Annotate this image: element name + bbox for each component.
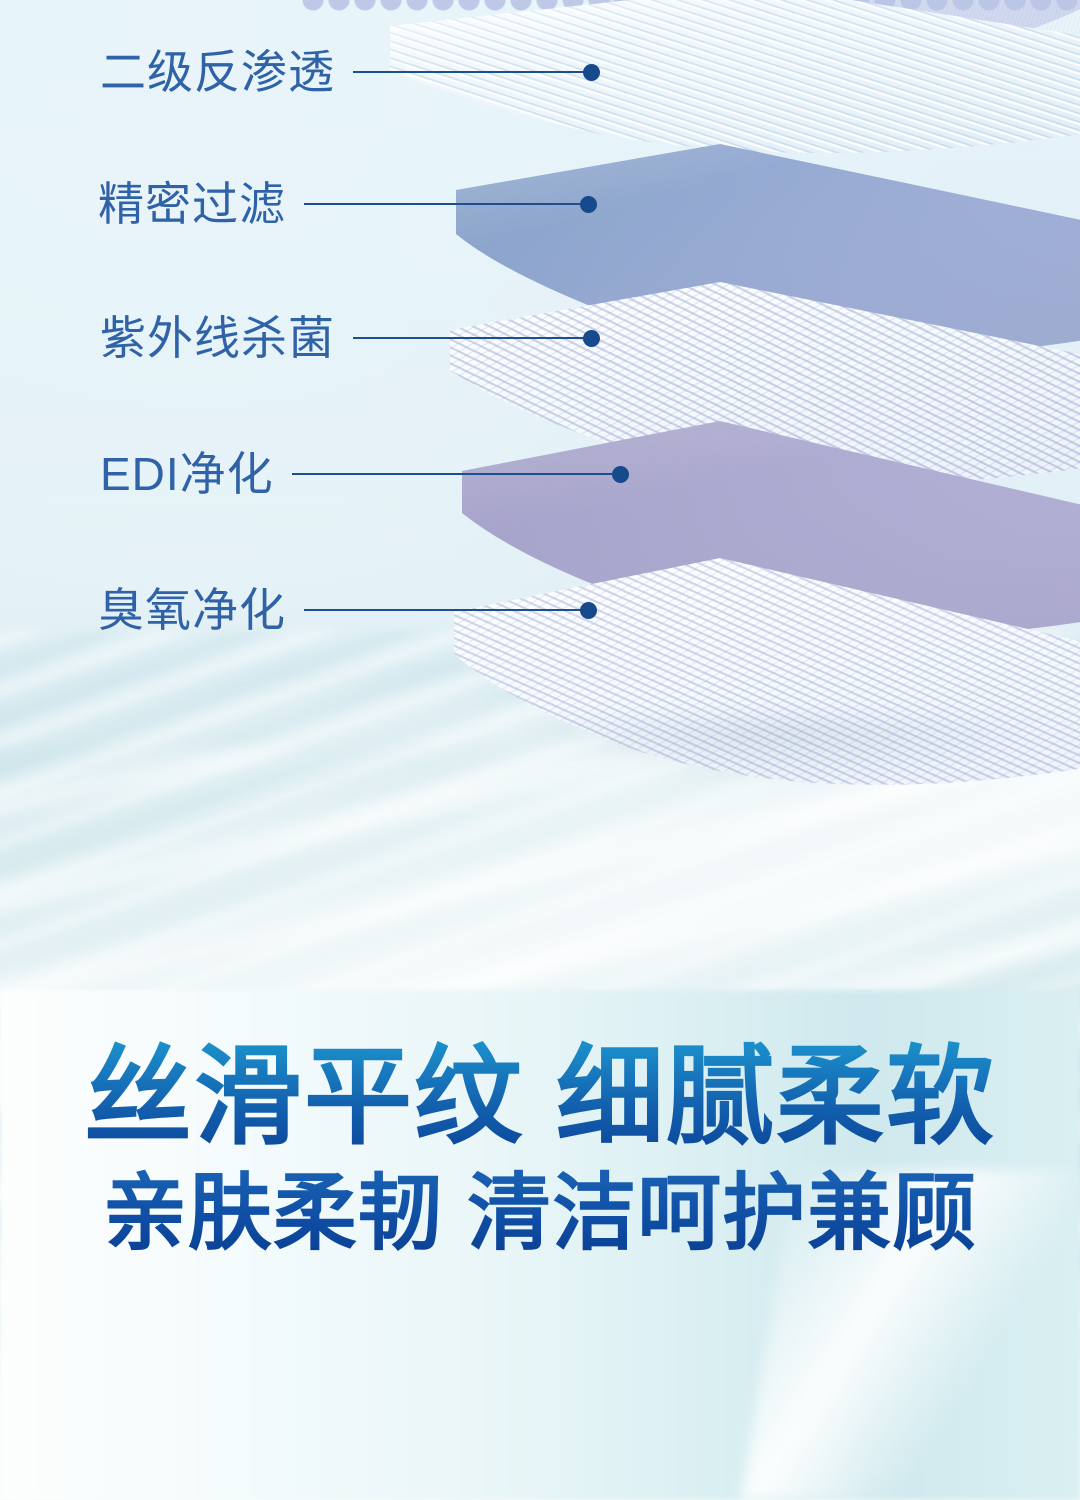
callout-precision-filter: 精密过滤 (98, 172, 597, 236)
leader-line-icon (353, 71, 585, 73)
callout-ozone-purify: 臭氧净化 (98, 578, 597, 642)
callout-group: 二级反渗透 精密过滤 紫外线杀菌 EDI净化 臭氧净化 (0, 0, 1080, 1500)
leader-dot-icon (580, 196, 597, 213)
headline-secondary: 亲肤柔韧 清洁呵护兼顾 (0, 1168, 1080, 1259)
callout-edi-purify: EDI净化 (100, 442, 629, 506)
callout-label-reverse-osmosis: 二级反渗透 (100, 49, 335, 95)
leader-dot-icon (612, 466, 629, 483)
callout-label-precision-filter: 精密过滤 (98, 181, 286, 227)
callout-label-ozone-purify: 臭氧净化 (98, 587, 286, 633)
callout-label-edi-purify: EDI净化 (100, 451, 274, 497)
leader-line-icon (304, 609, 582, 611)
product-feature-poster: 二级反渗透 精密过滤 紫外线杀菌 EDI净化 臭氧净化 丝滑平纹 细腻柔软 (0, 0, 1080, 1500)
leader-dot-icon (580, 602, 597, 619)
callout-label-uv-sterilize: 紫外线杀菌 (100, 315, 335, 361)
callout-reverse-osmosis: 二级反渗透 (100, 40, 600, 104)
leader-line-icon (353, 337, 585, 339)
headline-primary: 丝滑平纹 细腻柔软 (0, 1040, 1080, 1154)
callout-uv-sterilize: 紫外线杀菌 (100, 306, 600, 370)
leader-line-icon (292, 473, 614, 475)
leader-line-icon (304, 203, 582, 205)
headline-block: 丝滑平纹 细腻柔软 亲肤柔韧 清洁呵护兼顾 (0, 1040, 1080, 1259)
leader-dot-icon (583, 330, 600, 347)
leader-dot-icon (583, 64, 600, 81)
